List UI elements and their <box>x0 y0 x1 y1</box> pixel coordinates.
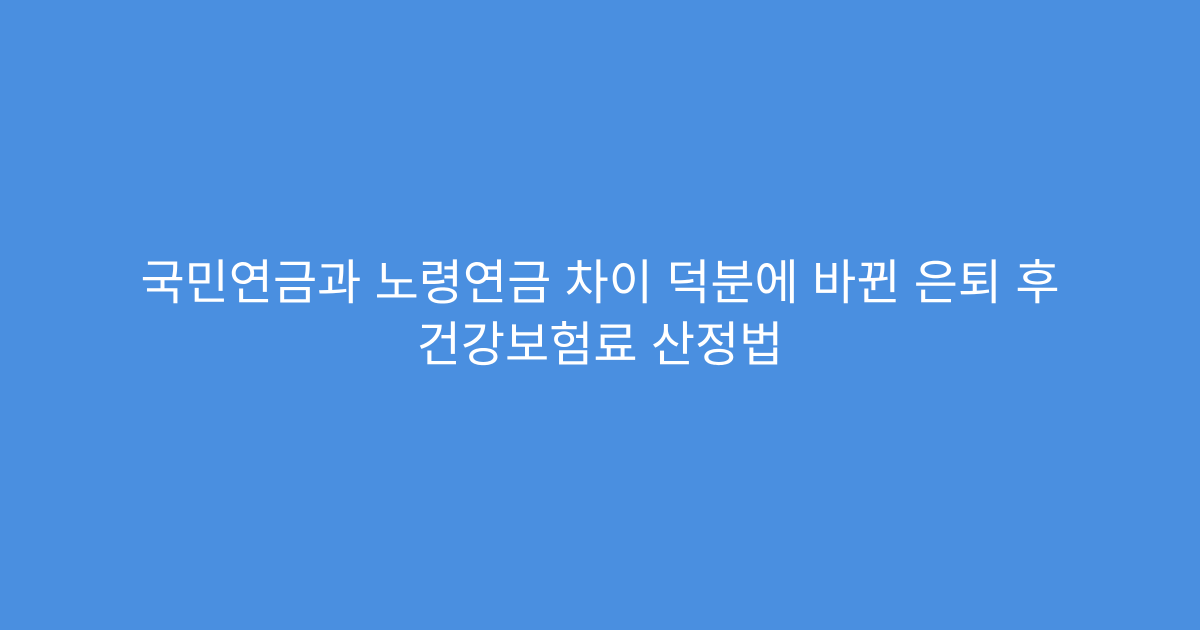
page-title: 국민연금과 노령연금 차이 덕분에 바뀐 은퇴 후 건강보험료 산정법 <box>95 253 1105 377</box>
social-share-card: 국민연금과 노령연금 차이 덕분에 바뀐 은퇴 후 건강보험료 산정법 <box>0 0 1200 630</box>
title-block: 국민연금과 노령연금 차이 덕분에 바뀐 은퇴 후 건강보험료 산정법 <box>95 253 1105 377</box>
